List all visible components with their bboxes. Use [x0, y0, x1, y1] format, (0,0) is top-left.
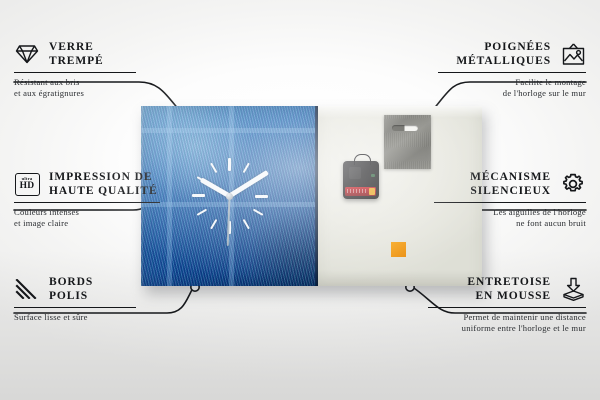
callout-title-line2: TREMPÉ	[49, 55, 104, 67]
callout-subtitle-line1: Couleurs intenses	[14, 207, 79, 217]
diagonal-lines-icon	[14, 276, 40, 302]
callout-rule	[14, 72, 136, 73]
callout-title-line1: VERRE	[49, 41, 94, 53]
callout-title-line2: SILENCIEUX	[470, 185, 551, 197]
battery	[345, 187, 376, 196]
clock-center-hub	[226, 193, 233, 200]
hanging-frame-icon	[560, 41, 586, 67]
callout-subtitle-line2: uniforme entre l'horloge et le mur	[462, 323, 586, 333]
callout-bords-polis: BORDS POLIS Surface lisse et sûre	[14, 275, 136, 323]
callout-rule	[14, 307, 136, 308]
callout-subtitle-line2: ne font aucun bruit	[516, 218, 586, 228]
product-image	[141, 106, 482, 286]
mechanism-hanging-loop	[354, 154, 371, 165]
callout-rule	[428, 307, 586, 308]
infographic-canvas: VERRE TREMPÉ Résistant aux bris et aux é…	[0, 0, 600, 400]
callout-title-line2: EN MOUSSE	[475, 290, 551, 302]
battery-plus-terminal	[369, 188, 375, 195]
callout-subtitle-line2: et image claire	[14, 218, 68, 228]
callout-verre-trempe: VERRE TREMPÉ Résistant aux bris et aux é…	[14, 40, 136, 99]
callout-subtitle-line1: Résistant aux bris	[14, 77, 80, 87]
callout-title-line2: MÉTALLIQUES	[456, 55, 551, 67]
callout-title-line1: BORDS	[49, 276, 93, 288]
callout-rule	[438, 72, 586, 73]
hd-icon-hd-text: HD	[20, 182, 35, 192]
arrow-down-pad-icon	[560, 276, 586, 302]
callout-subtitle-line1: Facilite le montage	[515, 77, 586, 87]
callout-subtitle-line1: Surface lisse et sûre	[14, 312, 88, 322]
callout-title-line2: HAUTE QUALITÉ	[49, 185, 158, 197]
callout-title-line2: POLIS	[49, 290, 88, 302]
callout-title-line1: MÉCANISME	[470, 171, 551, 183]
callout-rule	[434, 202, 586, 203]
hanger-slot	[392, 125, 418, 131]
callout-title-line1: ENTRETOISE	[467, 276, 551, 288]
callout-rule	[14, 202, 160, 203]
diamond-icon	[14, 41, 40, 67]
callout-subtitle-line2: de l'horloge sur le mur	[503, 88, 586, 98]
clock-face	[141, 106, 318, 286]
callout-title-line1: IMPRESSION DE	[49, 171, 152, 183]
callout-subtitle-line1: Permet de maintenir une distance	[463, 312, 586, 322]
callout-poignees-metalliques: POIGNÉES MÉTALLIQUES Facilite le montage…	[438, 40, 586, 99]
callout-entretoise-mousse: ENTRETOISE EN MOUSSE Permet de maintenir…	[428, 275, 586, 334]
clock-mechanism	[343, 161, 379, 199]
metal-hanger	[384, 115, 431, 169]
callout-impression-hd: ultra HD IMPRESSION DE HAUTE QUALITÉ Cou…	[14, 170, 160, 229]
callout-title-line1: POIGNÉES	[484, 41, 551, 53]
foam-spacer	[391, 242, 406, 257]
callout-subtitle-line2: et aux égratignures	[14, 88, 84, 98]
callout-subtitle-line1: Les aiguilles de l'horloge	[493, 207, 586, 217]
ultra-hd-icon: ultra HD	[14, 171, 40, 197]
callout-mecanisme-silencieux: MÉCANISME SILENCIEUX Les aiguilles de l'…	[434, 170, 586, 229]
gear-icon	[560, 171, 586, 197]
